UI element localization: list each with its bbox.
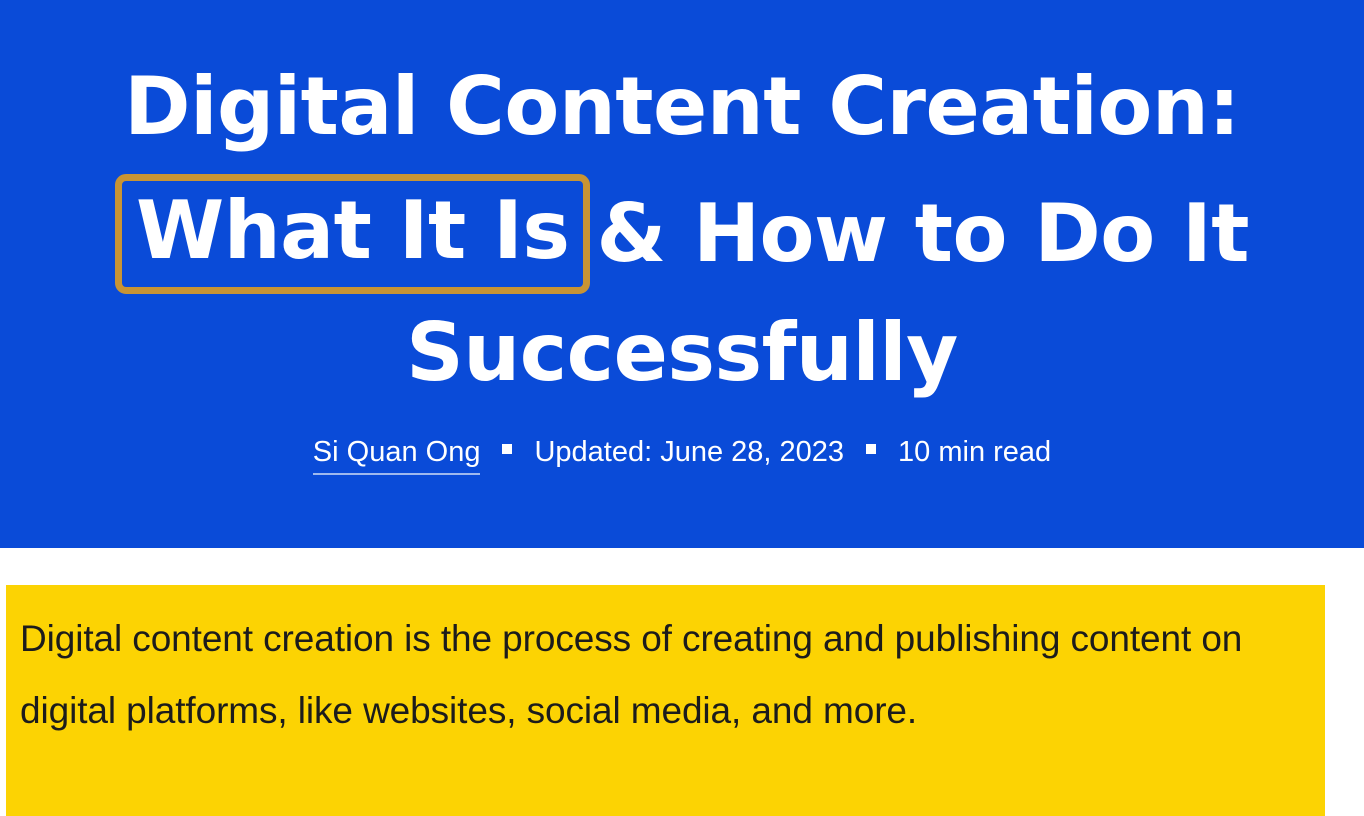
byline-separator-icon (866, 444, 876, 454)
byline: Si Quan OngUpdated: June 28, 202310 min … (0, 432, 1364, 472)
byline-updated-date: Updated: June 28, 2023 (534, 436, 844, 468)
summary-callout-text: Digital content creation is the process … (20, 603, 1309, 747)
byline-read-time: 10 min read (898, 436, 1051, 468)
page-title: Digital Content Creation: What It Is& Ho… (0, 48, 1364, 412)
article-header-page: Digital Content Creation: What It Is& Ho… (0, 0, 1364, 816)
summary-callout-box: Digital content creation is the process … (6, 585, 1325, 816)
title-line-3: Successfully (0, 294, 1364, 412)
title-line-2-rest: & How to Do It (596, 175, 1249, 293)
title-line-1: Digital Content Creation: (0, 48, 1364, 166)
byline-separator-icon (502, 444, 512, 454)
title-highlight-box: What It Is (115, 174, 591, 294)
article-hero-header: Digital Content Creation: What It Is& Ho… (0, 0, 1364, 548)
title-line-2: What It Is& How to Do It (0, 166, 1364, 294)
byline-author-link[interactable]: Si Quan Ong (313, 436, 481, 475)
